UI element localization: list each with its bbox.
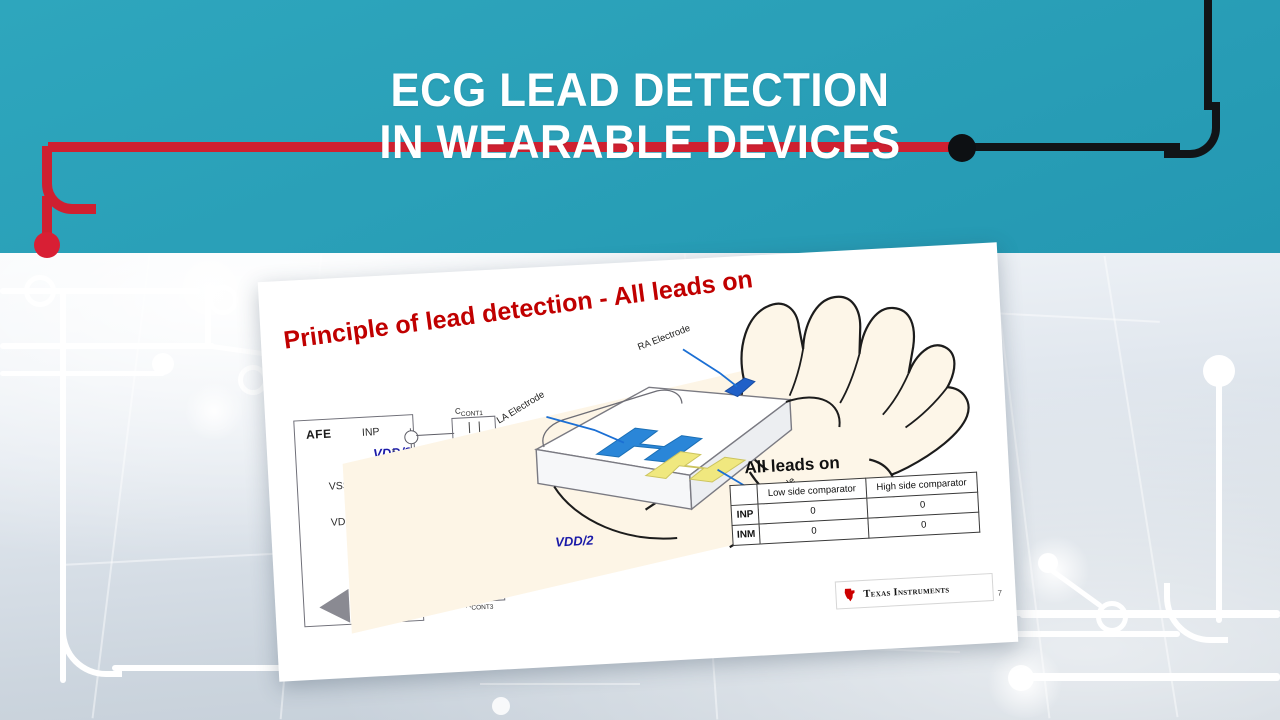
ti-texas-icon bbox=[842, 587, 858, 603]
trace-node bbox=[152, 353, 174, 375]
trace-node bbox=[492, 697, 510, 715]
red-node-dot bbox=[34, 232, 60, 258]
title-line-1: ECG LEAD DETECTION bbox=[45, 64, 1235, 116]
cap-label-1: CCONT1 bbox=[455, 405, 483, 418]
trace-node bbox=[24, 275, 56, 307]
ti-wordmark: Texas Instruments bbox=[863, 584, 950, 600]
afe-label: AFE bbox=[306, 427, 332, 442]
title-line-2: IN WEARABLE DEVICES bbox=[45, 116, 1235, 168]
presentation-slide[interactable]: Principle of lead detection - All leads … bbox=[258, 242, 1019, 681]
trace-segment bbox=[0, 343, 215, 349]
trace-segment bbox=[0, 371, 165, 376]
trace-segment bbox=[60, 653, 66, 683]
row-label-inp: INP bbox=[731, 504, 759, 525]
trace-segment bbox=[1030, 673, 1280, 681]
red-accent-stem bbox=[42, 196, 52, 236]
pin-node-inp bbox=[404, 430, 419, 445]
video-frame: ECG LEAD DETECTION IN WEARABLE DEVICES bbox=[0, 0, 1280, 720]
trace-node bbox=[1203, 355, 1235, 387]
title-banner: ECG LEAD DETECTION IN WEARABLE DEVICES bbox=[0, 0, 1280, 254]
bias-label-3: VDD/2 bbox=[555, 533, 594, 550]
trace-segment bbox=[1000, 610, 1280, 616]
trace-segment bbox=[1000, 631, 1180, 637]
pin-label-inp: INP bbox=[362, 426, 380, 439]
black-node-dot bbox=[948, 134, 976, 162]
row-label-inm: INM bbox=[732, 524, 760, 545]
slide-page-number: 7 bbox=[997, 589, 1002, 598]
table-col-blank bbox=[730, 484, 758, 505]
title-block: ECG LEAD DETECTION IN WEARABLE DEVICES bbox=[0, 64, 1280, 168]
